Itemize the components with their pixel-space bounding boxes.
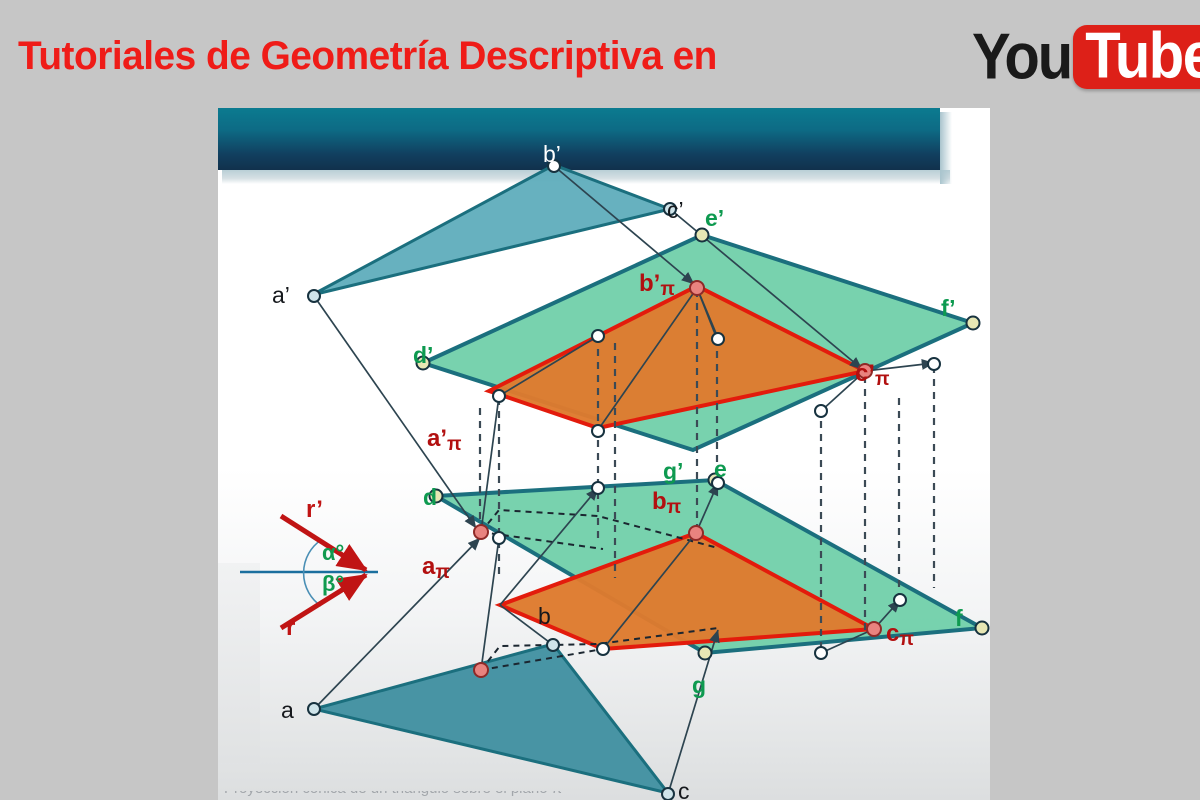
label-e: e: [714, 458, 727, 481]
slide-canvas: b’ a’ c’ e’ d’ f’ b’π a’π c’π d g’ e bπ …: [218, 108, 990, 800]
label-c-pi: cπ: [886, 622, 914, 649]
youtube-wordmark-you: You: [972, 25, 1071, 90]
label-f-prime: f’: [941, 297, 955, 320]
page-header: Tutoriales de Geometría Descriptiva en Y…: [0, 0, 1200, 105]
label-e-prime: e’: [705, 207, 724, 230]
youtube-wordmark-tube: Tube: [1085, 24, 1200, 89]
lower-blue-triangle: [314, 644, 668, 793]
label-d: d: [423, 486, 437, 509]
label-c-prime-pi: c’π: [855, 362, 890, 389]
label-a-pi: aπ: [422, 555, 450, 582]
label-b-prime-pi: b’π: [639, 272, 675, 299]
label-alpha: α°: [322, 542, 344, 564]
label-a-prime-pi: a’π: [427, 427, 462, 454]
slide-caption-text: Proyección cónica de un triángulo sobre …: [224, 791, 562, 797]
label-r-prime: r’: [306, 498, 323, 522]
descriptive-geometry-diagram: [218, 108, 990, 800]
youtube-logo-badge: Tube: [1073, 25, 1200, 89]
label-d-prime: d’: [413, 344, 433, 367]
label-b-prime: b’: [543, 143, 561, 166]
label-g: g: [692, 674, 706, 697]
label-b-pi: bπ: [652, 490, 681, 517]
label-b: b: [538, 605, 551, 628]
page-title: Tutoriales de Geometría Descriptiva en: [18, 34, 717, 79]
label-a: a: [281, 699, 294, 722]
slide-caption-clipped: Proyección cónica de un triángulo sobre …: [224, 791, 964, 800]
youtube-logo[interactable]: You Tube: [972, 22, 1200, 92]
label-g-prime: g’: [663, 460, 683, 483]
label-c-prime: c’: [667, 199, 684, 222]
angle-figure: [240, 516, 378, 628]
label-a-prime: a’: [272, 284, 290, 307]
label-beta: β°: [322, 573, 344, 595]
label-f: f: [955, 607, 963, 630]
label-r: r: [286, 616, 295, 640]
